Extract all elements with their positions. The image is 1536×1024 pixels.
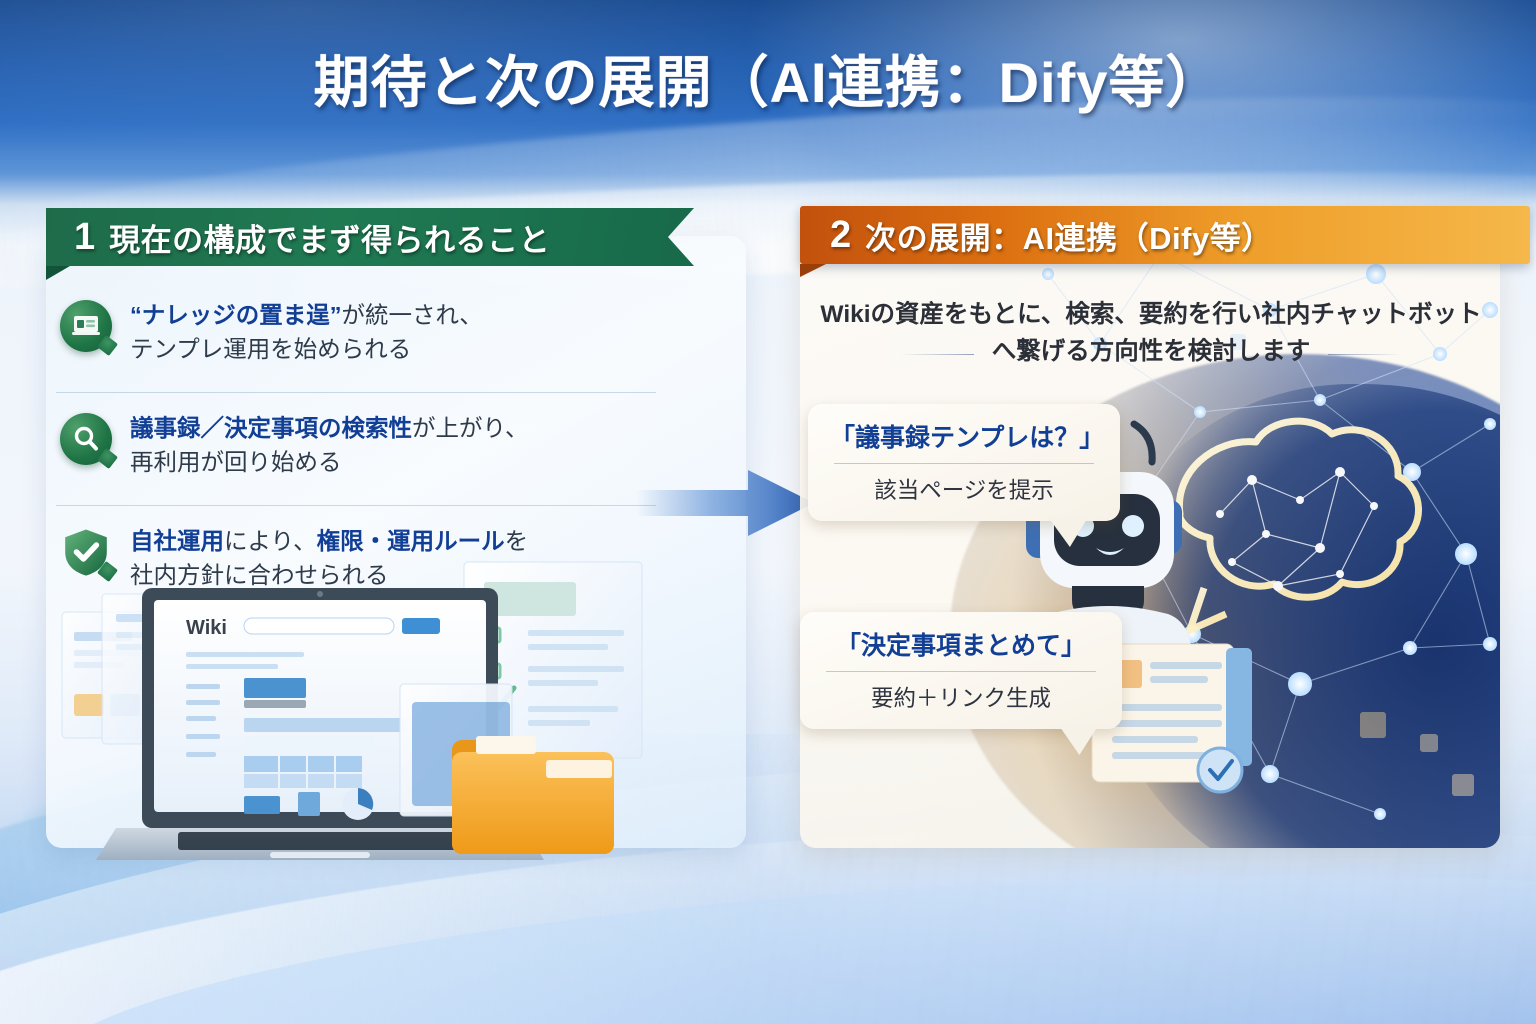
bullet-1-rest: が統一され、: [342, 302, 483, 328]
chat-bubble-1-question: 「議事録テンプレは？」: [830, 418, 1098, 454]
shield-check-icon: [60, 526, 112, 578]
list-item-text: 議事録／決定事項の検索性が上がり、 再利用が回り始める: [130, 411, 656, 480]
slide-root: 期待と次の展開（AI連携：Dify等）: [0, 0, 1536, 1024]
right-banner: 2 次の展開：AI連携（Dify等）: [800, 206, 1530, 264]
left-banner-label: 現在の構成でまず得られること: [109, 215, 550, 260]
list-item-text: “ナレッジの置ま逞”が統一され、 テンプレ運用を始められる: [130, 298, 656, 367]
chat-bubble-2-divider: [826, 671, 1096, 672]
bullet-2-rest: が上がり、: [412, 415, 529, 441]
search-magnifier-icon: [60, 413, 112, 465]
page-title: 期待と次の展開（AI連携：Dify等）: [0, 38, 1536, 119]
bullet-1-line2: テンプレ運用を始められる: [130, 332, 656, 366]
right-description-line2: へ繋げる方向性を検討します: [974, 333, 1329, 370]
left-bullet-list: “ナレッジの置ま逞”が統一され、 テンプレ運用を始められる 議事録／決定事項の検…: [56, 292, 656, 618]
chat-bubble-1-divider: [834, 463, 1094, 464]
bullet-3-rest: を: [505, 528, 529, 554]
list-item: “ナレッジの置ま逞”が統一され、 テンプレ運用を始められる: [56, 292, 656, 392]
bullet-3-highlight-a: 自社運用: [130, 528, 224, 554]
svg-text:Wiki: Wiki: [186, 617, 227, 639]
list-item: 議事録／決定事項の検索性が上がり、 再利用が回り始める: [56, 392, 656, 505]
document-screen-icon: [60, 300, 112, 352]
bullet-3-line2: 社内方針に合わせられる: [130, 558, 656, 592]
bullet-2-line2: 再利用が回り始める: [130, 445, 656, 479]
bullet-2-highlight: 議事録／決定事項の検索性: [130, 415, 412, 441]
chat-bubble-question-1: 「議事録テンプレは？」 該当ページを提示: [808, 404, 1120, 521]
right-banner-number: 2: [830, 216, 851, 254]
left-banner: 1 現在の構成でまず得られること: [46, 208, 694, 266]
right-description: Wikiの資産をもとに、検索、要約を行い社内チャットボット へ繋げる方向性を検討…: [806, 296, 1496, 370]
chat-bubble-question-2: 「決定事項まとめて」 要約＋リンク生成: [800, 612, 1122, 729]
right-description-line1: Wikiの資産をもとに、検索、要約を行い社内チャットボット: [806, 296, 1496, 333]
list-item-text: 自社運用により、権限・運用ルールを 社内方針に合わせられる: [130, 524, 656, 593]
bullet-3-highlight-b: 権限・運用ルール: [317, 528, 505, 554]
chat-bubble-2-question: 「決定事項まとめて」: [822, 626, 1100, 662]
chat-bubble-2-answer: 要約＋リンク生成: [822, 681, 1100, 713]
left-banner-number: 1: [74, 218, 95, 256]
list-item: 自社運用により、権限・運用ルールを 社内方針に合わせられる: [56, 505, 656, 618]
bullet-3-mid: により、: [224, 528, 317, 554]
bullet-1-highlight: “ナレッジの置ま逞”: [130, 302, 342, 328]
right-banner-label: 次の展開：AI連携（Dify等）: [865, 213, 1273, 258]
chat-bubble-1-answer: 該当ページを提示: [830, 473, 1098, 505]
flow-arrow-right: [636, 460, 816, 546]
